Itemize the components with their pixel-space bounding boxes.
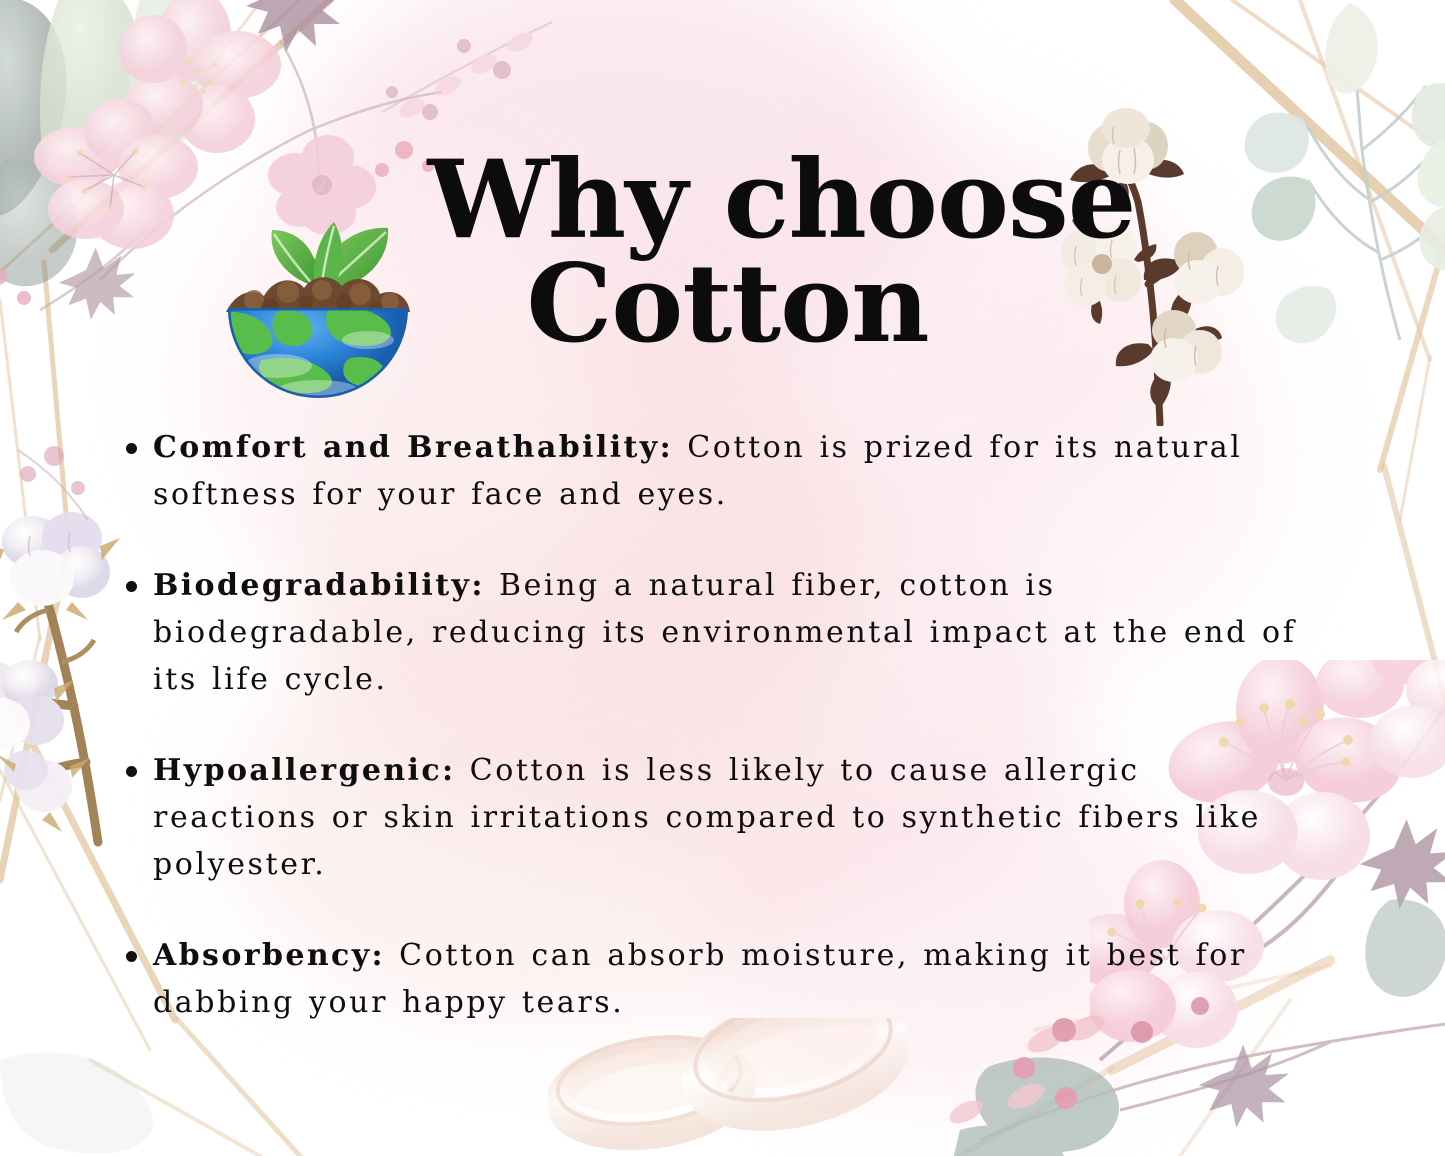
- list-item: Comfort and Breathability: Cotton is pri…: [126, 424, 1306, 518]
- list-item: Hypoallergenic: Cotton is less likely to…: [126, 747, 1306, 888]
- berry-sprig-icon: [8, 440, 128, 550]
- list-item: Absorbency: Cotton can absorb moisture, …: [126, 932, 1306, 1026]
- title-line-1: Why choose: [0, 148, 1445, 252]
- list-item-text: Absorbency: Cotton can absorb moisture, …: [153, 932, 1306, 1026]
- bullet-dot-icon: [126, 951, 137, 962]
- berry-sprig-icon: [352, 16, 572, 146]
- background-wash: [300, 0, 940, 390]
- cherry-blossom-icon: [0, 0, 450, 340]
- list-item-text: Comfort and Breathability: Cotton is pri…: [153, 424, 1306, 518]
- list-item-label: Comfort and Breathability:: [153, 430, 673, 465]
- infographic-poster: Why choose Cotton Comfort and Breathabil…: [0, 0, 1445, 1156]
- cotton-branch-icon: [1048, 106, 1278, 426]
- bullet-dot-icon: [126, 766, 137, 777]
- list-item-label: Absorbency:: [153, 938, 385, 973]
- wedding-rings-icon: [548, 1018, 908, 1156]
- list-item-text: Biodegradability: Being a natural fiber,…: [153, 562, 1306, 703]
- bullet-dot-icon: [126, 443, 137, 454]
- list-item-text: Hypoallergenic: Cotton is less likely to…: [153, 747, 1306, 888]
- benefits-list: Comfort and Breathability: Cotton is pri…: [126, 424, 1306, 1026]
- list-item-label: Hypoallergenic:: [153, 753, 456, 788]
- eucalyptus-leaf-icon: [1230, 0, 1445, 350]
- bullet-dot-icon: [126, 581, 137, 592]
- list-item: Biodegradability: Being a natural fiber,…: [126, 562, 1306, 703]
- page-title: Why choose Cotton: [0, 148, 1445, 356]
- earth-sprout-icon: [218, 200, 418, 400]
- list-item-label: Biodegradability:: [153, 568, 485, 603]
- title-line-2: Cotton: [0, 252, 1445, 356]
